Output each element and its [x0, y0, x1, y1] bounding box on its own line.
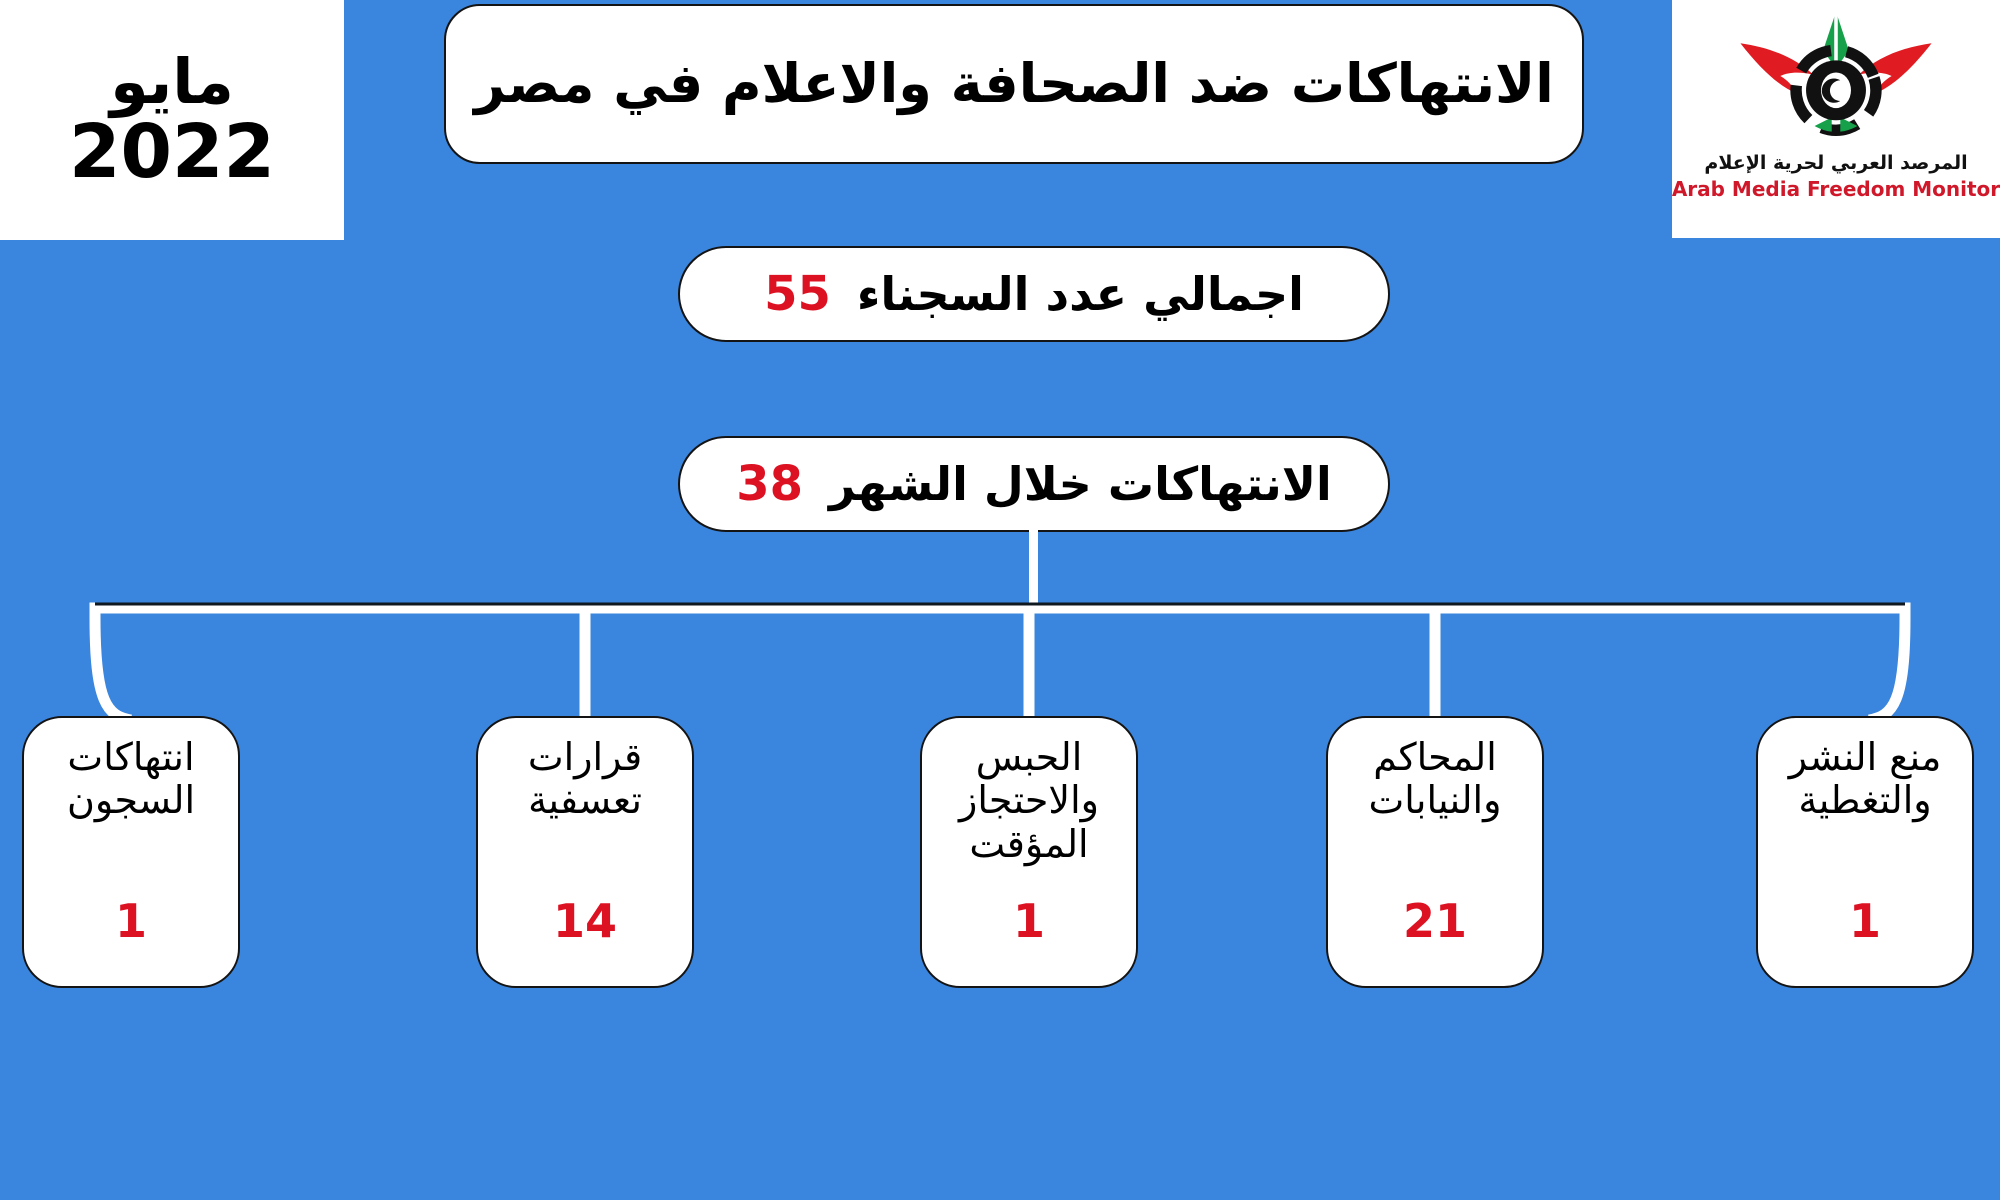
arab-media-freedom-monitor-logo-icon: [1729, 6, 1943, 156]
category-label: منع النشر والتغطية: [1766, 736, 1964, 823]
category-count: 14: [553, 894, 617, 948]
logo-name-english: Arab Media Freedom Monitor: [1672, 177, 2000, 201]
category-box-arbitrary-decisions: قرارات تعسفية 14: [476, 716, 694, 988]
date-panel: مايو 2022: [0, 0, 344, 240]
category-count: 1: [1849, 894, 1881, 948]
category-box-imprisonment-detention: الحبس والاحتجاز المؤقت 1: [920, 716, 1138, 988]
logo-name-arabic: المرصد العربي لحرية الإعلام: [1704, 152, 1967, 174]
category-label: انتهاكات السجون: [32, 736, 230, 823]
date-year: 2022: [69, 115, 275, 189]
monthly-violations-content: الانتهاكات خلال الشهر 38: [736, 456, 1332, 512]
page-title: الانتهاكات ضد الصحافة والاعلام في مصر: [448, 53, 1580, 115]
title-box: الانتهاكات ضد الصحافة والاعلام في مصر: [444, 4, 1584, 164]
total-prisoners-content: اجمالي عدد السجناء 55: [764, 266, 1304, 322]
date-month: مايو: [110, 51, 234, 113]
total-prisoners-value: 55: [764, 266, 831, 322]
category-count: 1: [1013, 894, 1045, 948]
category-label: الحبس والاحتجاز المؤقت: [930, 736, 1128, 866]
category-label: المحاكم والنيابات: [1336, 736, 1534, 823]
connector-stem-vertical: [1029, 530, 1038, 612]
category-box-publication-ban: منع النشر والتغطية 1: [1756, 716, 1974, 988]
total-prisoners-box: اجمالي عدد السجناء 55: [678, 246, 1390, 342]
category-box-courts-prosecutions: المحاكم والنيابات 21: [1326, 716, 1544, 988]
monthly-violations-value: 38: [736, 456, 803, 512]
logo-panel: المرصد العربي لحرية الإعلام Arab Media F…: [1672, 0, 2000, 238]
category-count: 1: [115, 894, 147, 948]
monthly-violations-label: الانتهاكات خلال الشهر: [829, 457, 1332, 511]
infographic-canvas: مايو 2022 الانتهاكات ضد الصحافة والاعلام…: [0, 0, 2000, 1200]
category-box-prison-violations: انتهاكات السجون 1: [22, 716, 240, 988]
category-label: قرارات تعسفية: [486, 736, 684, 823]
total-prisoners-label: اجمالي عدد السجناء: [857, 267, 1304, 321]
category-count: 21: [1403, 894, 1467, 948]
monthly-violations-box: الانتهاكات خلال الشهر 38: [678, 436, 1390, 532]
